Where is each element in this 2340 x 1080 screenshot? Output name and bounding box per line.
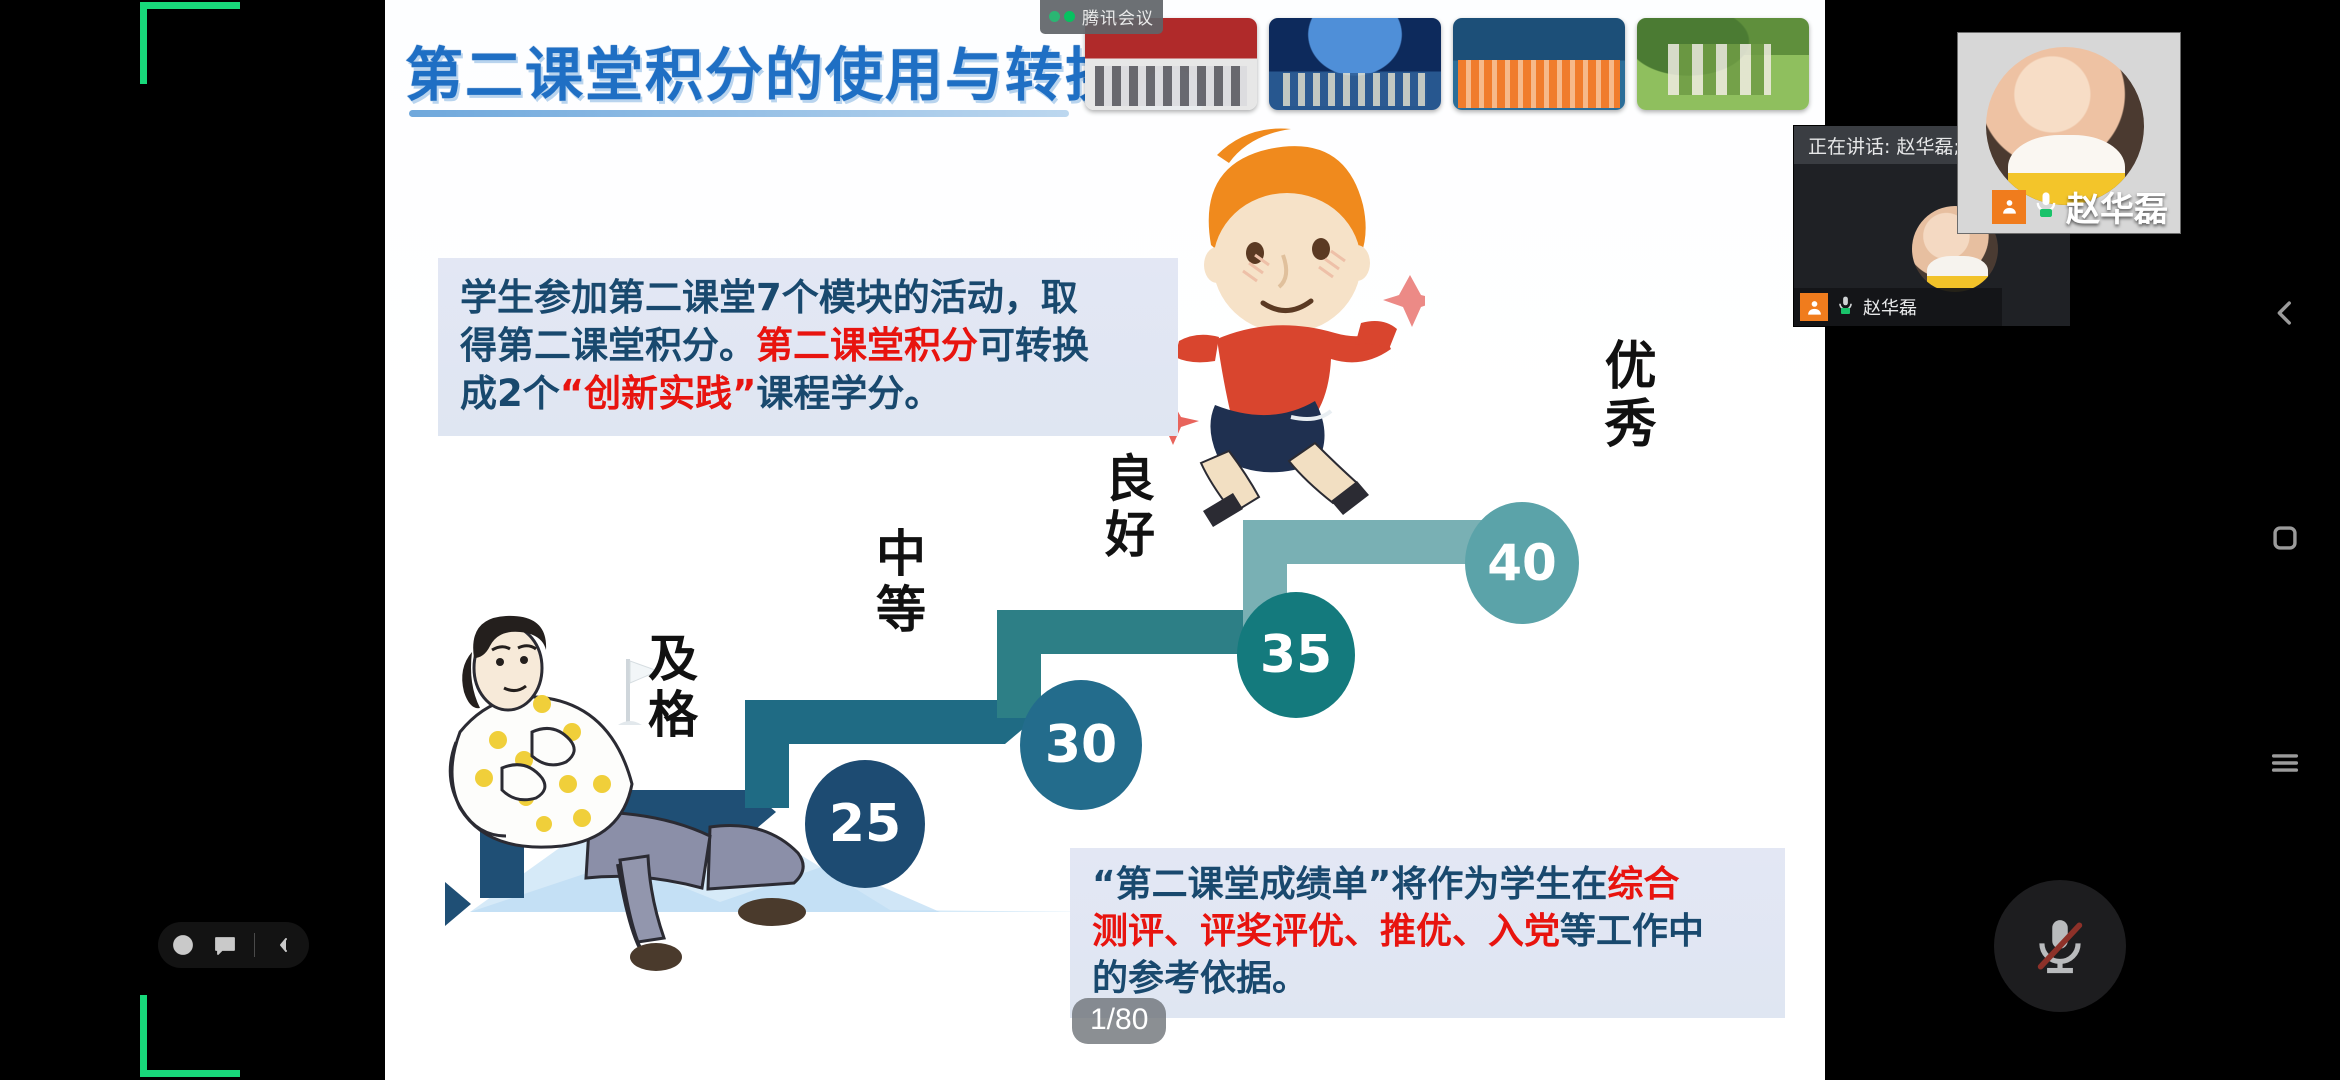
top-panel-line-1: 学生参加第二课堂7个模块的活动，取 xyxy=(460,274,1158,322)
screenshare-corner-bottom-left xyxy=(140,995,240,1077)
chat-button[interactable] xyxy=(212,932,238,958)
emoji-icon xyxy=(171,933,195,957)
toolbar-divider xyxy=(254,933,255,957)
field-practice-photo xyxy=(1637,18,1809,110)
chat-bubble-icon xyxy=(213,933,237,957)
top-text-panel: 学生参加第二课堂7个模块的活动，取 得第二课堂积分。第二课堂积分可转换 成2个“… xyxy=(438,258,1178,436)
shared-slide: 第二课堂积分的使用与转换 xyxy=(385,0,1825,1080)
chevron-left-icon xyxy=(272,933,296,957)
participant-name-bar: 赵华磊 xyxy=(1794,288,2002,326)
fullscreen-button[interactable] xyxy=(2262,515,2308,561)
more-menu-button[interactable] xyxy=(2262,740,2308,786)
reactions-button[interactable] xyxy=(170,932,196,958)
collapse-toolbar-button[interactable] xyxy=(271,932,297,958)
square-icon xyxy=(2268,521,2302,555)
mute-toggle-button[interactable] xyxy=(1994,880,2126,1012)
bottom-toolbar xyxy=(158,922,309,968)
screen-root: 第二课堂积分的使用与转换 xyxy=(0,0,2340,1080)
chevron-left-icon xyxy=(2268,296,2302,330)
score-bubble-30: 30 xyxy=(1020,680,1142,810)
photo-strip xyxy=(1085,18,1809,110)
screenshare-corner-top-left xyxy=(140,2,240,84)
chorus-performance-photo xyxy=(1453,18,1625,110)
self-name: 赵华磊 xyxy=(2066,182,2168,231)
top-panel-line-2: 得第二课堂积分。第二课堂积分可转换 xyxy=(460,322,1158,370)
score-bubble-25: 25 xyxy=(805,760,925,888)
collapse-panel-button[interactable] xyxy=(2262,290,2308,336)
score-bubble-40: 40 xyxy=(1465,502,1579,624)
bottom-panel-line-1: “第二课堂成绩单”将作为学生在综合 xyxy=(1092,862,1767,909)
grade-label-medium: 中等 xyxy=(871,527,923,639)
microphone-muted-icon xyxy=(2029,915,2091,977)
bottom-panel-line-3: 的参考依据。 xyxy=(1092,956,1767,1003)
hamburger-menu-icon xyxy=(2268,746,2302,780)
grade-label-good: 良好 xyxy=(1100,452,1152,564)
person-badge-icon xyxy=(1800,293,1828,321)
person-badge-icon xyxy=(1992,190,2026,224)
bottom-panel-line-2: 测评、评奖评优、推优、入党等工作中 xyxy=(1092,909,1767,956)
self-name-bar: 赵华磊 xyxy=(1992,182,2168,231)
tencent-meeting-logo: 腾讯会议 xyxy=(1040,0,1163,34)
page-title: 第二课堂积分的使用与转换 xyxy=(405,28,1105,112)
bottom-text-panel: “第二课堂成绩单”将作为学生在综合 测评、评奖评优、推优、入党等工作中 的参考依… xyxy=(1070,848,1785,1018)
title-underline xyxy=(409,110,1069,117)
microphone-active-icon xyxy=(2032,190,2060,223)
microphone-active-icon xyxy=(1836,295,1855,319)
reclining-student-illustration xyxy=(420,612,810,977)
score-bubble-35: 35 xyxy=(1237,592,1355,718)
top-panel-line-3: 成2个“创新实践”课程学分。 xyxy=(460,370,1158,418)
right-rail xyxy=(2230,0,2340,1080)
tencent-meeting-logo-icon xyxy=(1049,11,1075,22)
stage-ceremony-photo xyxy=(1269,18,1441,110)
grade-label-excellent: 优秀 xyxy=(1598,338,1652,454)
participant-name: 赵华磊 xyxy=(1863,294,1917,320)
running-boy-illustration xyxy=(1155,125,1425,545)
grade-label-pass: 及格 xyxy=(643,632,695,744)
page-indicator: 1/80 xyxy=(1072,998,1166,1044)
